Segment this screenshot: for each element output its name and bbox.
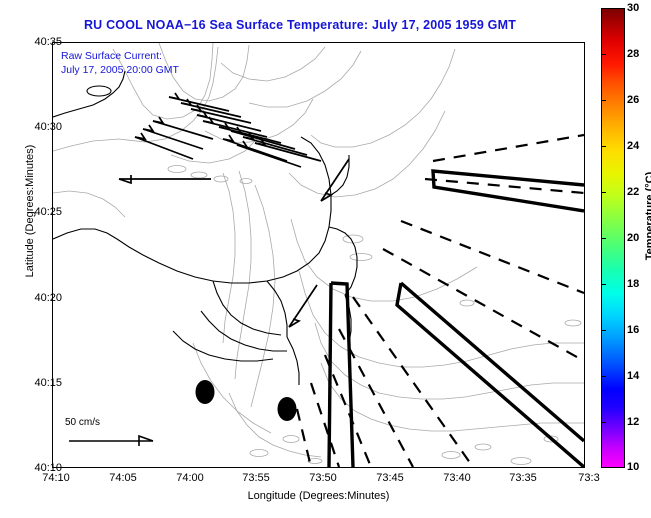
ytick-label: 40:25 xyxy=(34,206,62,218)
colorbar-tick-label: 24 xyxy=(627,140,639,152)
scale-legend-label: 50 cm/s xyxy=(65,417,100,428)
ytick-label: 40:15 xyxy=(34,377,62,389)
surface-current-vectors xyxy=(119,93,349,327)
xtick-label: 73:35 xyxy=(509,472,537,484)
colorbar-tick-label: 28 xyxy=(627,48,639,60)
colorbar-tick-label: 18 xyxy=(627,278,639,290)
colorbar-axis-label: Temperature (°C) xyxy=(644,126,651,306)
annotation-line-2: July 17, 2005 20:00 GMT xyxy=(61,63,179,77)
xtick-label: 73:55 xyxy=(242,472,270,484)
scale-legend: 50 cm/s xyxy=(61,417,171,457)
y-axis-label: Latitude (Degrees:Minutes) xyxy=(24,91,36,331)
radar-dashed-radials xyxy=(297,135,584,467)
xtick-label: 73:40 xyxy=(443,472,471,484)
colorbar-tick-label: 16 xyxy=(627,324,639,336)
colorbar-tick-label: 12 xyxy=(627,416,639,428)
colorbar-tick-label: 30 xyxy=(627,2,639,14)
colorbar-tick-label: 14 xyxy=(627,370,639,382)
annotation-block: Raw Surface Current: July 17, 2005 20:00… xyxy=(61,49,179,77)
ytick-label: 40:35 xyxy=(34,36,62,48)
map-graphics xyxy=(53,43,584,467)
colorbar-tick-label: 20 xyxy=(627,232,639,244)
x-axis-label: Longitude (Degrees:Minutes) xyxy=(52,490,585,502)
xtick-label: 73:50 xyxy=(309,472,337,484)
colorbar-tick-label: 22 xyxy=(627,186,639,198)
xtick-label: 74:10 xyxy=(42,472,70,484)
xtick-label: 73:45 xyxy=(376,472,404,484)
ytick-label: 40:20 xyxy=(34,292,62,304)
station-markers xyxy=(196,380,297,421)
coastline xyxy=(53,71,357,385)
ytick-label: 40:30 xyxy=(34,121,62,133)
colorbar-tick-label: 10 xyxy=(627,461,639,473)
xtick-label: 73:3 xyxy=(578,472,599,484)
map-plot-area[interactable]: Raw Surface Current: July 17, 2005 20:00… xyxy=(52,42,585,468)
xtick-label: 74:00 xyxy=(176,472,204,484)
sst-map-figure: RU COOL NOAA−16 Sea Surface Temperature:… xyxy=(0,0,651,518)
colorbar-tick-label: 26 xyxy=(627,94,639,106)
figure-title: RU COOL NOAA−16 Sea Surface Temperature:… xyxy=(0,18,600,32)
annotation-line-1: Raw Surface Current: xyxy=(61,49,179,63)
xtick-label: 74:05 xyxy=(109,472,137,484)
